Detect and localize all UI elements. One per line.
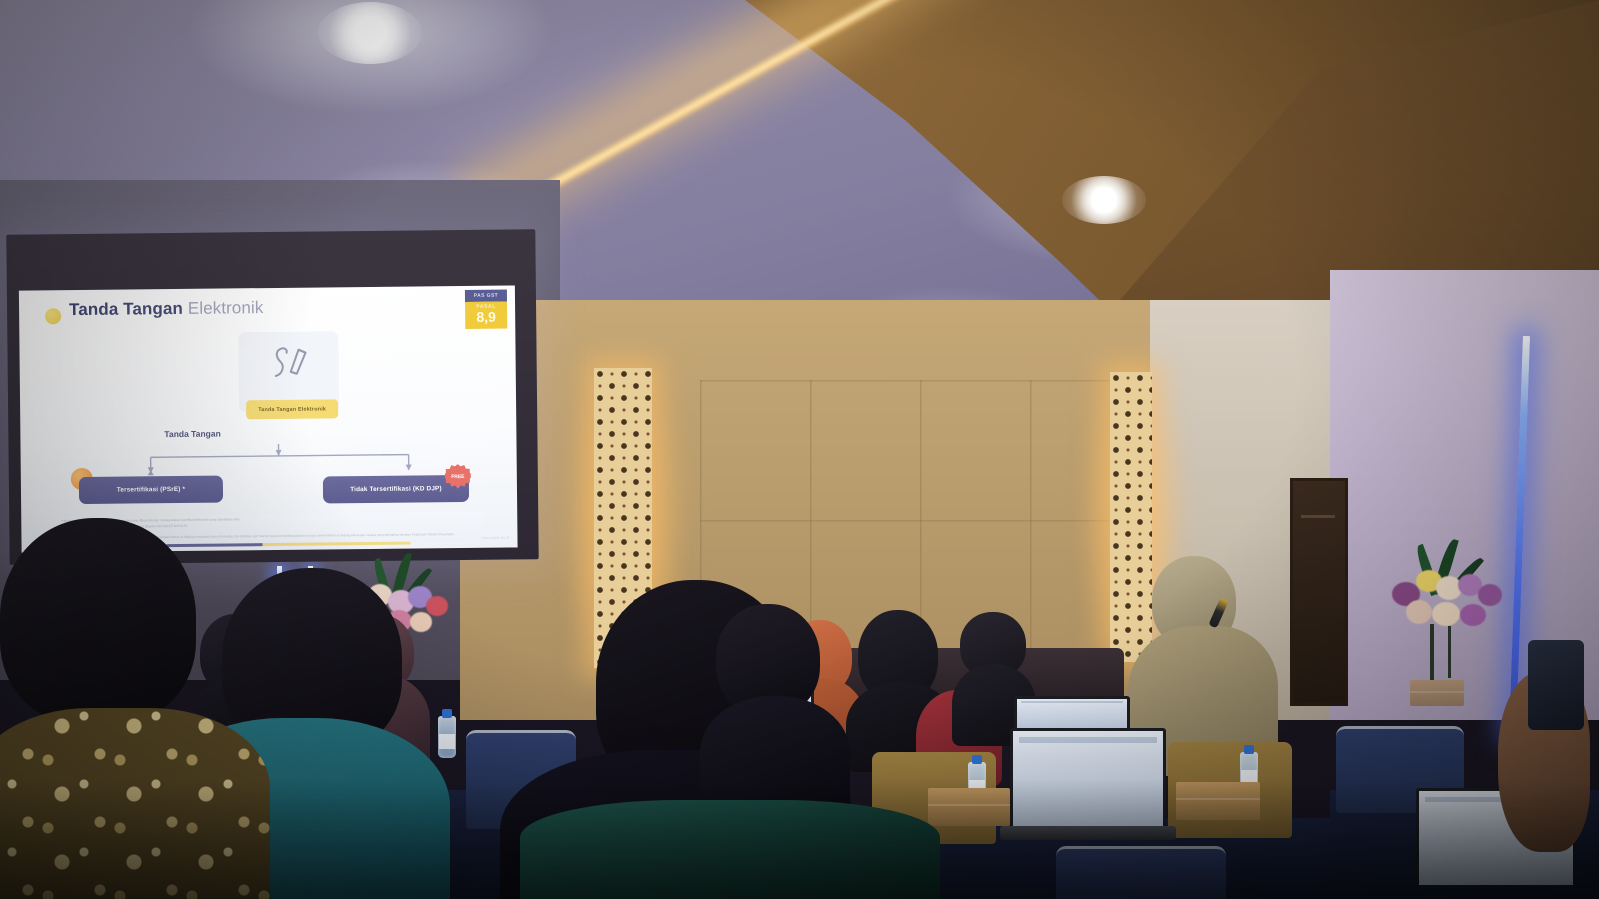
slide-bullet-dot-icon — [45, 308, 61, 324]
attendee-batik-shirt — [0, 518, 270, 899]
diagram-connector-lines — [89, 442, 469, 478]
dark-window-frame — [1290, 478, 1348, 706]
snack-box[interactable] — [928, 788, 1010, 826]
snack-box[interactable] — [1410, 680, 1464, 706]
banquet-chair-blue[interactable] — [1056, 846, 1226, 899]
slide-content: Tanda Tangan Elektronik PAS GST PASAL 8,… — [19, 285, 518, 552]
pasal-badge: PAS GST PASAL 8,9 — [465, 290, 507, 329]
diagram-center-chip: Tanda Tangan Elektronik — [246, 399, 338, 419]
pasal-badge-top: PAS GST — [465, 290, 507, 302]
pasal-badge-body: PASAL 8,9 — [465, 302, 507, 329]
batik-pattern — [0, 708, 270, 899]
slide-title-light: Elektronik — [188, 298, 264, 318]
laptop-screen — [1013, 731, 1163, 831]
projection-screen-surface: Tanda Tangan Elektronik PAS GST PASAL 8,… — [19, 285, 518, 552]
attendee-green-top — [520, 800, 940, 899]
flower-arrangement — [1378, 540, 1518, 690]
slide-footer-url: www.pajak.go.id — [482, 536, 510, 540]
ceiling-downlight-icon — [1062, 176, 1146, 224]
seminar-room-photo: Tanda Tangan Elektronik PAS GST PASAL 8,… — [0, 0, 1599, 899]
ceiling-downlight-icon — [318, 2, 422, 64]
diagram-branch-label: Tanda Tangan — [164, 429, 220, 440]
pasal-badge-number: 8,9 — [465, 310, 507, 325]
slide-progress-segment-b — [263, 542, 411, 547]
attendee-side — [700, 604, 850, 804]
slide-title-bold: Tanda Tangan — [69, 299, 183, 319]
projection-screen[interactable]: Tanda Tangan Elektronik PAS GST PASAL 8,… — [6, 229, 538, 565]
diagram-node-certified: Tersertifikasi (PSrE) * — [79, 476, 223, 505]
phone-device — [1528, 640, 1584, 730]
signature-pen-icon — [268, 338, 312, 382]
snack-box[interactable] — [1176, 782, 1260, 820]
laptop-keyboard[interactable] — [1000, 826, 1176, 840]
slide-title: Tanda Tangan Elektronik — [69, 298, 264, 320]
